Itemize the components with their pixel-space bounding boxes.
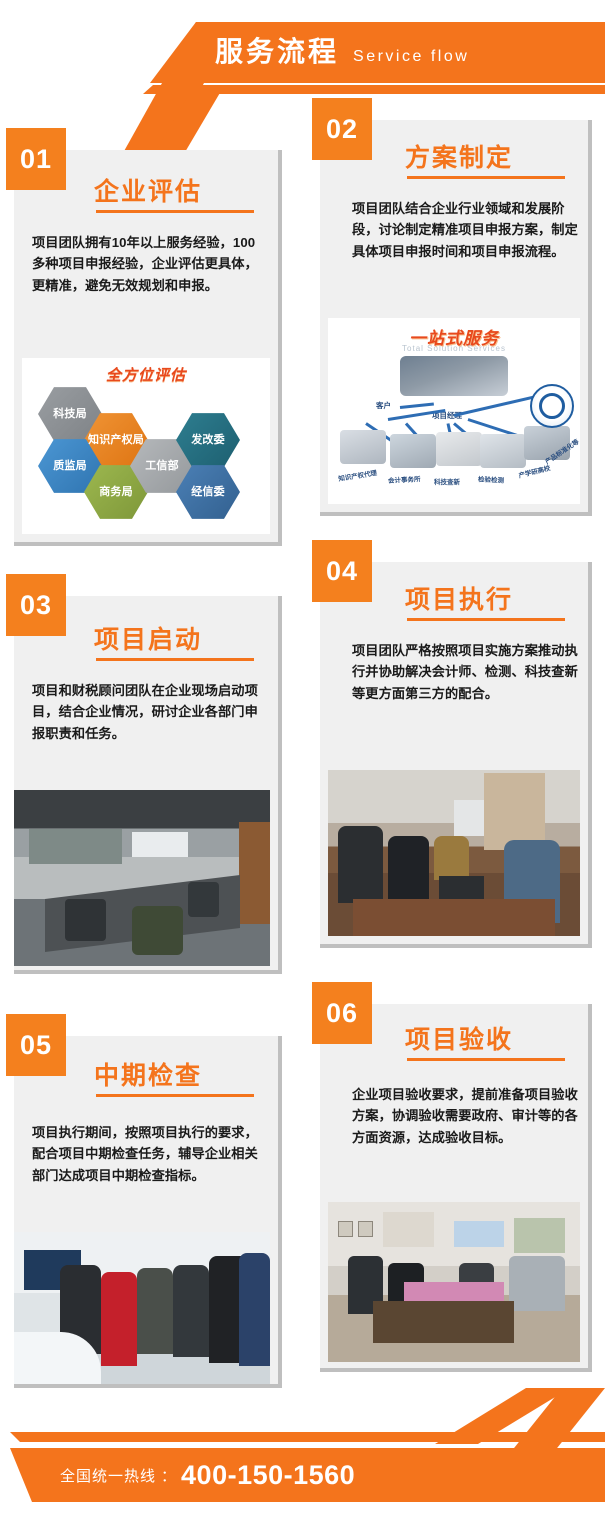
step-description: 项目团队拥有10年以上服务经验，100多种项目申报经验，企业评估更具体，更精准，… xyxy=(32,232,260,296)
title-underline xyxy=(407,618,565,621)
step-media-one-stop-service: 一站式服务 Total Solution Services 客户 项目经理 xyxy=(328,318,580,504)
step-description: 项目和财税顾问团队在企业现场启动项目，结合企业情况，研讨企业各部门申报职责和任务… xyxy=(32,680,262,744)
title-underline xyxy=(96,210,254,213)
footer-colon: ： xyxy=(161,1465,176,1486)
footer-stripe xyxy=(10,1432,605,1442)
service-flow-infographic: 服务流程 Service flow 01 企业评估 项目团队拥有10年以上服务经… xyxy=(0,0,605,1538)
step-card-04: 04 项目执行 项目团队严格按照项目实施方案推动执行并协助解决会计师、检测、科技… xyxy=(320,562,592,948)
footer-phone-number[interactable]: 400-150-1560 xyxy=(181,1460,355,1491)
oss-certification-seal-icon xyxy=(530,384,574,428)
step-title: 项目验收 xyxy=(405,1020,513,1056)
step-title: 方案制定 xyxy=(405,138,513,174)
step-description: 项目团队结合企业行业领域和发展阶段，讨论制定精准项目申报方案，制定具体项目申报时… xyxy=(352,198,580,262)
step-title: 中期检查 xyxy=(94,1056,202,1092)
oss-label-testing: 检验检测 xyxy=(478,473,504,484)
step-number-badge: 05 xyxy=(6,1014,66,1076)
oss-node-testing xyxy=(480,434,526,468)
step-media-hexagon-graphic: 全方位评估 科技局 知识产权局 质监局 商务局 工信部 发改委 经信委 xyxy=(22,358,270,534)
step-media-showroom-visit-photo xyxy=(14,1232,270,1384)
step-card-02: 02 方案制定 项目团队结合企业行业领域和发展阶段，讨论制定精准项目申报方案，制… xyxy=(320,120,592,516)
oss-node-novelty xyxy=(436,432,482,466)
oss-node-ip xyxy=(340,430,386,464)
step-card-03: 03 项目启动 项目和财税顾问团队在企业现场启动项目，结合企业情况，研讨企业各部… xyxy=(14,596,282,974)
title-underline xyxy=(407,1058,565,1061)
step-title: 企业评估 xyxy=(94,172,202,208)
step-number-badge: 06 xyxy=(312,982,372,1044)
step-media-meeting-laptops-photo xyxy=(328,770,580,936)
oss-hub-photo xyxy=(400,356,508,396)
title-underline xyxy=(96,1094,254,1097)
oss-label-accounting: 会计事务所 xyxy=(388,473,421,485)
title-underline xyxy=(96,658,254,661)
header-title-group: 服务流程 Service flow xyxy=(215,30,469,70)
page-title-subtitle: Service flow xyxy=(353,48,469,66)
step-number-badge: 04 xyxy=(312,540,372,602)
oss-label-novelty: 科技查新 xyxy=(434,476,460,486)
step-title: 项目执行 xyxy=(405,580,513,616)
step-card-05: 05 中期检查 项目执行期间，按照项目执行的要求，配合项目中期检查任务，辅导企业… xyxy=(14,1036,282,1388)
oss-node-accounting xyxy=(390,434,436,468)
header-banner: 服务流程 Service flow xyxy=(0,0,605,112)
oss-client-label: 客户 xyxy=(376,400,391,411)
step-media-boardroom-acceptance-photo xyxy=(328,1202,580,1362)
step-description: 项目团队严格按照项目实施方案推动执行并协助解决会计师、检测、科技查新等更方面第三… xyxy=(352,640,580,704)
step-number-badge: 02 xyxy=(312,98,372,160)
step-media-conference-room-photo xyxy=(14,790,270,966)
step-title: 项目启动 xyxy=(94,620,202,656)
step-number-badge: 01 xyxy=(6,128,66,190)
oss-label-ip: 知识产权代理 xyxy=(337,467,377,483)
title-underline xyxy=(407,176,565,179)
footer-hotline-group: 全国统一热线 ： 400-150-1560 xyxy=(60,1448,355,1502)
page-title: 服务流程 xyxy=(215,30,339,70)
step-number-badge: 03 xyxy=(6,574,66,636)
footer-hotline-label: 全国统一热线 xyxy=(60,1465,156,1486)
step-card-06: 06 项目验收 企业项目验收要求，提前准备项目验收方案，协调验收需要政府、审计等… xyxy=(320,1004,592,1372)
oss-subtitle: Total Solution Services xyxy=(328,344,580,353)
hexagon-graphic-title: 全方位评估 xyxy=(22,364,270,385)
header-stripe xyxy=(143,85,605,94)
step-description: 项目执行期间，按照项目执行的要求，配合项目中期检查任务，辅导企业相关部门达成项目… xyxy=(32,1122,262,1186)
step-card-01: 01 企业评估 项目团队拥有10年以上服务经验，100多种项目申报经验，企业评估… xyxy=(14,150,282,546)
step-description: 企业项目验收要求，提前准备项目验收方案，协调验收需要政府、审计等的各方面资源，达… xyxy=(352,1084,580,1148)
